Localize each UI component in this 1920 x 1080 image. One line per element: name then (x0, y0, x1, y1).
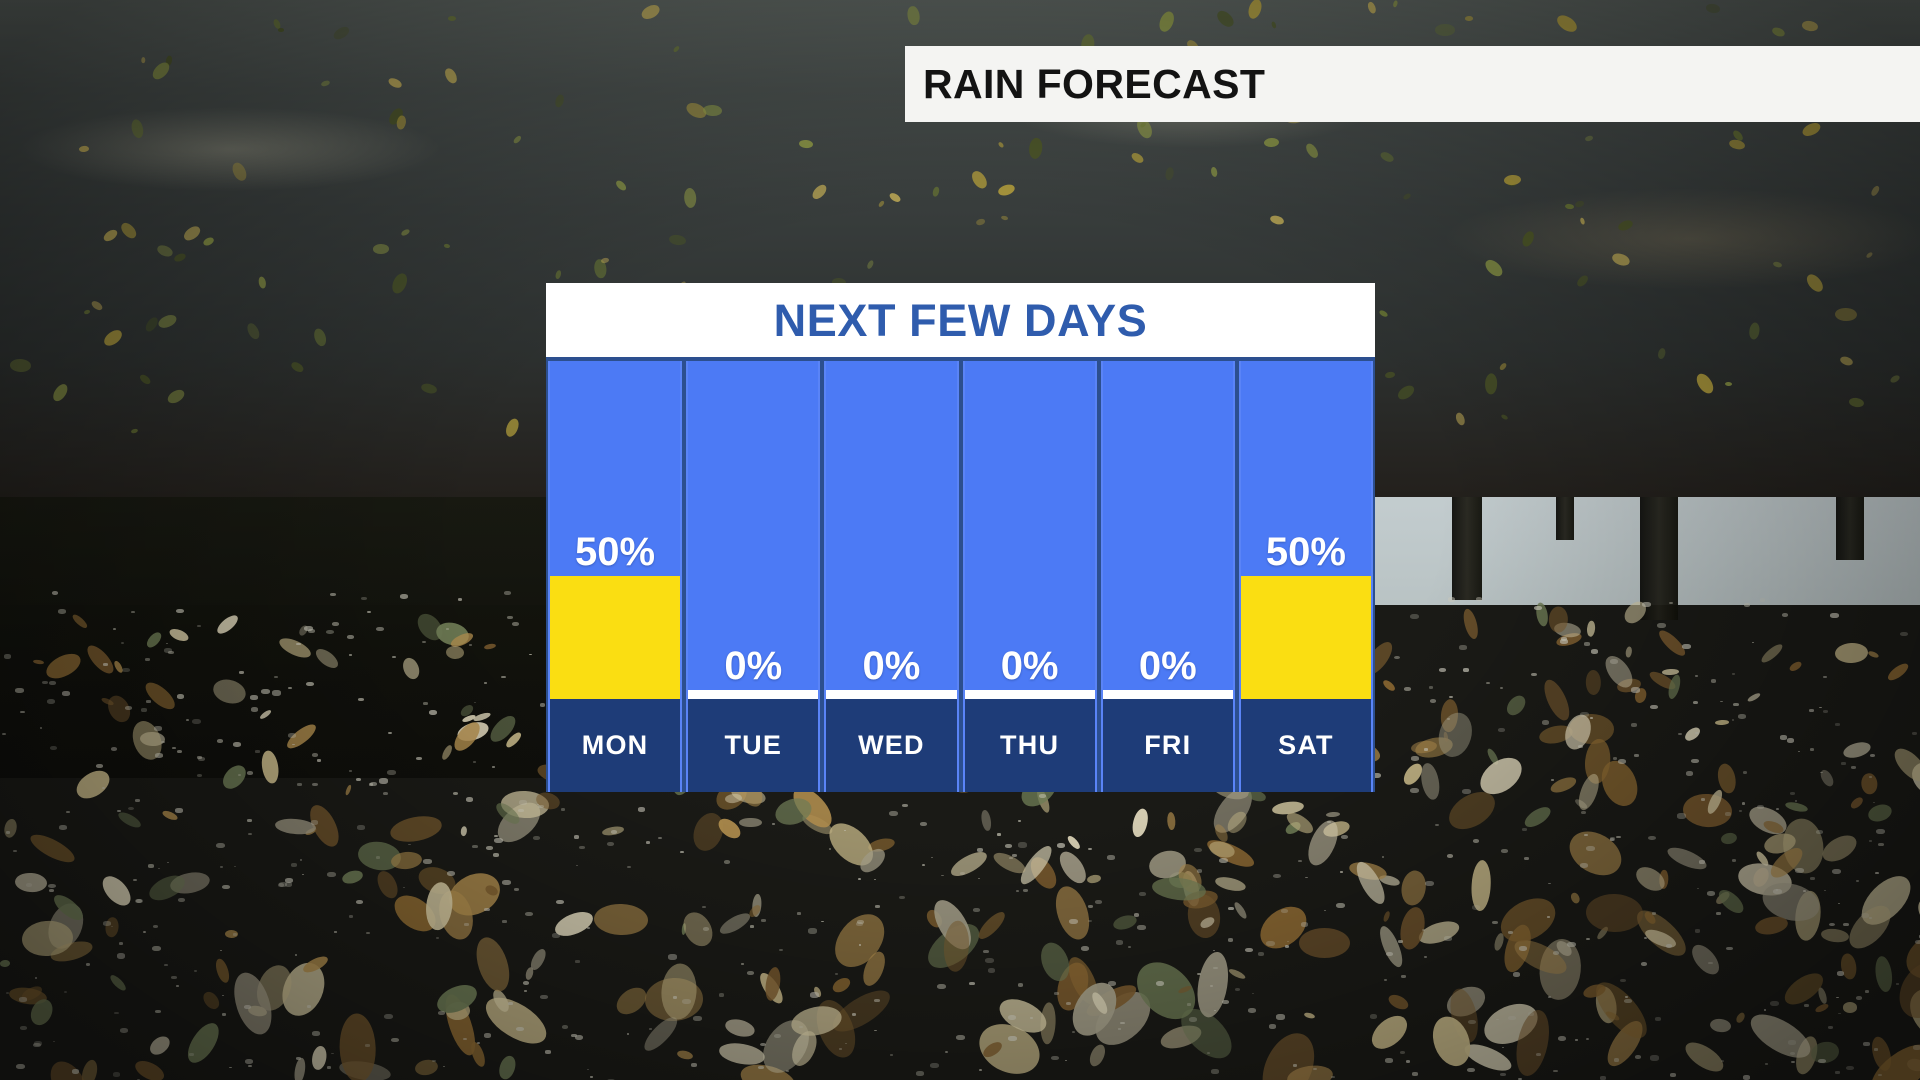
day-label-box-mon[interactable]: MON (550, 699, 680, 792)
rain-chance-label-mon: 50% (550, 532, 680, 572)
headline-title: RAIN FORECAST (923, 64, 1265, 105)
day-name: FRI (1144, 732, 1191, 759)
forecast-panel: NEXT FEW DAYS 50%MON0%TUE0%WED0%THU0%FRI… (546, 283, 1375, 792)
day-column-tue[interactable]: 0%TUE (686, 361, 820, 792)
day-column-wed[interactable]: 0%WED (824, 361, 958, 792)
rain-bar-fill-sat (1241, 576, 1371, 699)
day-column-thu[interactable]: 0%THU (963, 361, 1097, 792)
day-label-box-sat[interactable]: SAT (1241, 699, 1371, 792)
rain-chance-label-tue: 0% (688, 646, 818, 686)
day-label-box-thu[interactable]: THU (965, 699, 1095, 792)
panel-header: NEXT FEW DAYS (546, 283, 1375, 357)
rain-chance-bar-chart: 50%MON0%TUE0%WED0%THU0%FRI50%SAT (546, 357, 1375, 792)
day-name: TUE (724, 732, 782, 759)
rain-chance-label-thu: 0% (965, 646, 1095, 686)
rain-bar-fill-wed (826, 690, 956, 699)
rain-chance-label-sat: 50% (1241, 532, 1371, 572)
day-name: MON (582, 732, 649, 759)
rain-bar-fill-mon (550, 576, 680, 699)
rain-chance-label-wed: 0% (826, 646, 956, 686)
day-name: WED (858, 732, 925, 759)
rain-bar-fill-tue (688, 690, 818, 699)
day-column-mon[interactable]: 50%MON (548, 361, 682, 792)
day-column-fri[interactable]: 0%FRI (1101, 361, 1235, 792)
day-column-sat[interactable]: 50%SAT (1239, 361, 1373, 792)
day-label-box-wed[interactable]: WED (826, 699, 956, 792)
day-name: THU (1000, 732, 1059, 759)
headline-banner: RAIN FORECAST (905, 46, 1920, 122)
day-name: SAT (1278, 732, 1334, 759)
rain-chance-label-fri: 0% (1103, 646, 1233, 686)
day-label-box-fri[interactable]: FRI (1103, 699, 1233, 792)
panel-title: NEXT FEW DAYS (774, 298, 1148, 343)
day-label-box-tue[interactable]: TUE (688, 699, 818, 792)
rain-bar-fill-fri (1103, 690, 1233, 699)
rain-bar-fill-thu (965, 690, 1095, 699)
